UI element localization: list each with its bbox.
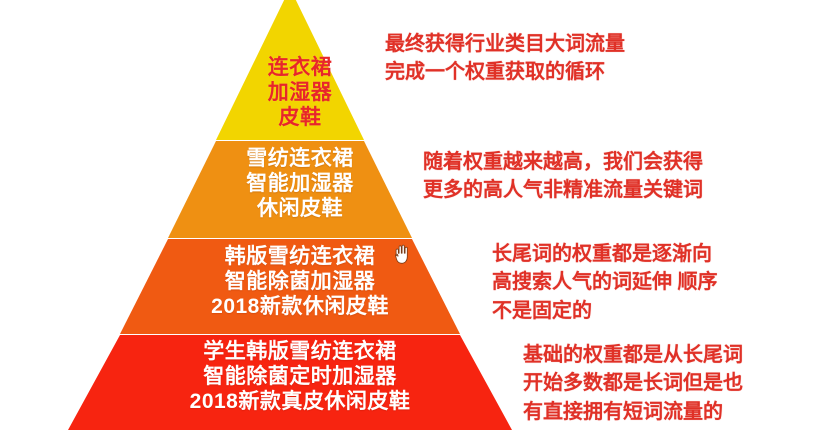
slide-canvas: 连衣裙 加湿器 皮鞋 雪纺连衣裙 智能加湿器 休闲皮鞋 韩版雪纺连衣裙 智能除菌… — [0, 0, 831, 443]
annotation-note-bottom: 基础的权重都是从长尾词 开始多数都是长词但是也 有直接拥有短词流量的 — [523, 341, 743, 426]
pyramid-tier-3-shape — [120, 239, 460, 334]
annotation-note-top: 最终获得行业类目大词流量 完成一个权重获取的循环 — [385, 30, 625, 87]
annotation-note-upper-middle: 随着权重越来越高，我们会获得 更多的高人气非精准流量关键词 — [423, 148, 703, 205]
annotation-note-lower-middle: 长尾词的权重都是逐渐向 高搜索人气的词延伸 顺序 不是固定的 — [492, 240, 718, 325]
pyramid-tier-1-shape — [216, 0, 364, 140]
pyramid-tier-4-shape — [68, 335, 512, 430]
pyramid-tier-2-shape — [168, 141, 412, 238]
